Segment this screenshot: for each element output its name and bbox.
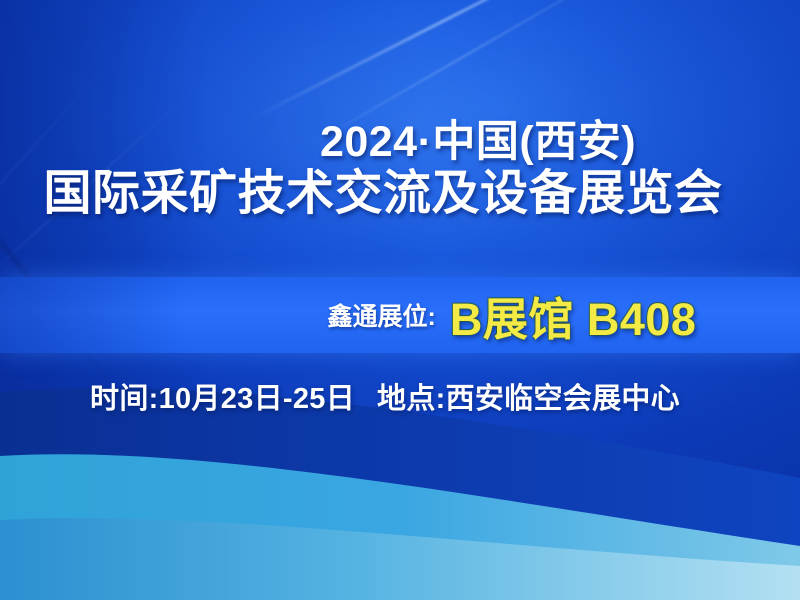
booth-info: 鑫通展位: B展馆 B408 <box>0 277 800 353</box>
title-line-event-name: 国际采矿技术交流及设备展览会 <box>0 167 766 221</box>
event-venue: 地点:西安临空会展中心 <box>377 375 680 417</box>
event-date: 时间:10月23日-25日 <box>90 375 355 417</box>
exhibition-poster: 2024·中国(西安) 国际采矿技术交流及设备展览会 鑫通展位: B展馆 B40… <box>0 0 800 600</box>
poster-title: 2024·中国(西安) 国际采矿技术交流及设备展览会 <box>0 120 800 221</box>
booth-label: 鑫通展位: <box>328 297 436 333</box>
title-line-year-city: 2024·中国(西安) <box>0 120 766 165</box>
booth-number: B展馆 B408 <box>450 283 697 348</box>
event-details: 时间:10月23日-25日 地点:西安临空会展中心 <box>0 375 800 417</box>
